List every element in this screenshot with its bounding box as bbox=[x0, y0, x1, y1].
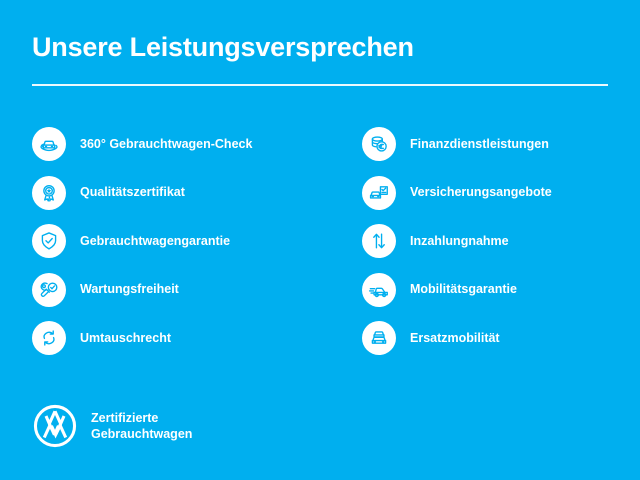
award-rosette-icon bbox=[32, 176, 66, 210]
brand-text: Zertifizierte Gebrauchtwagen bbox=[91, 410, 192, 442]
car-360-check-icon bbox=[32, 127, 66, 161]
volkswagen-logo-icon bbox=[32, 403, 78, 449]
arrows-up-down-icon bbox=[362, 224, 396, 258]
promise-item-finanzdienstleistungen[interactable]: Finanzdienstleistungen bbox=[362, 120, 632, 169]
promise-label: Wartungsfreiheit bbox=[80, 282, 179, 297]
title-divider bbox=[32, 84, 608, 86]
car-clipboard-icon bbox=[362, 176, 396, 210]
promise-item-versicherungsangebote[interactable]: Versicherungsangebote bbox=[362, 169, 632, 218]
brand-line-2: Gebrauchtwagen bbox=[91, 426, 192, 442]
brand-lockup: Zertifizierte Gebrauchtwagen bbox=[32, 403, 192, 449]
promise-item-gebrauchtwagengarantie[interactable]: Gebrauchtwagengarantie bbox=[32, 217, 332, 266]
promise-item-inzahlungnahme[interactable]: Inzahlungnahme bbox=[362, 217, 632, 266]
two-cars-icon bbox=[362, 321, 396, 355]
promise-item-gebrauchtwagen-check[interactable]: 360° Gebrauchtwagen-Check bbox=[32, 120, 332, 169]
header: Unsere Leistungsversprechen bbox=[32, 30, 608, 64]
promise-label: Mobilitätsgarantie bbox=[410, 282, 517, 297]
promise-label: Inzahlungnahme bbox=[410, 234, 509, 249]
promise-label: Umtauschrecht bbox=[80, 331, 171, 346]
promise-label: Qualitätszertifikat bbox=[80, 185, 185, 200]
promise-label: Ersatzmobilität bbox=[410, 331, 500, 346]
promise-item-ersatzmobilitaet[interactable]: Ersatzmobilität bbox=[362, 314, 632, 363]
page-title: Unsere Leistungsversprechen bbox=[32, 30, 608, 64]
promise-label: Gebrauchtwagengarantie bbox=[80, 234, 230, 249]
shield-check-icon bbox=[32, 224, 66, 258]
brand-line-1: Zertifizierte bbox=[91, 410, 192, 426]
promise-label: Versicherungsangebote bbox=[410, 185, 552, 200]
exchange-arrows-icon bbox=[32, 321, 66, 355]
leistungsversprechen-panel: Unsere Leistungsversprechen 360° Gebrauc… bbox=[0, 0, 640, 480]
coins-euro-icon bbox=[362, 127, 396, 161]
promise-item-qualitaetszertifikat[interactable]: Qualitätszertifikat bbox=[32, 169, 332, 218]
promise-item-mobilitaetsgarantie[interactable]: Mobilitätsgarantie bbox=[362, 266, 632, 315]
promise-item-umtauschrecht[interactable]: Umtauschrecht bbox=[32, 314, 332, 363]
car-motion-icon bbox=[362, 273, 396, 307]
promise-item-wartungsfreiheit[interactable]: Wartungsfreiheit bbox=[32, 266, 332, 315]
promises-right-column: Finanzdienstleistungen Versicherungsange… bbox=[362, 120, 632, 363]
promise-label: Finanzdienstleistungen bbox=[410, 137, 549, 152]
promise-label: 360° Gebrauchtwagen-Check bbox=[80, 137, 252, 152]
wrench-check-icon bbox=[32, 273, 66, 307]
promises-left-column: 360° Gebrauchtwagen-Check Qualitätszerti… bbox=[32, 120, 332, 363]
